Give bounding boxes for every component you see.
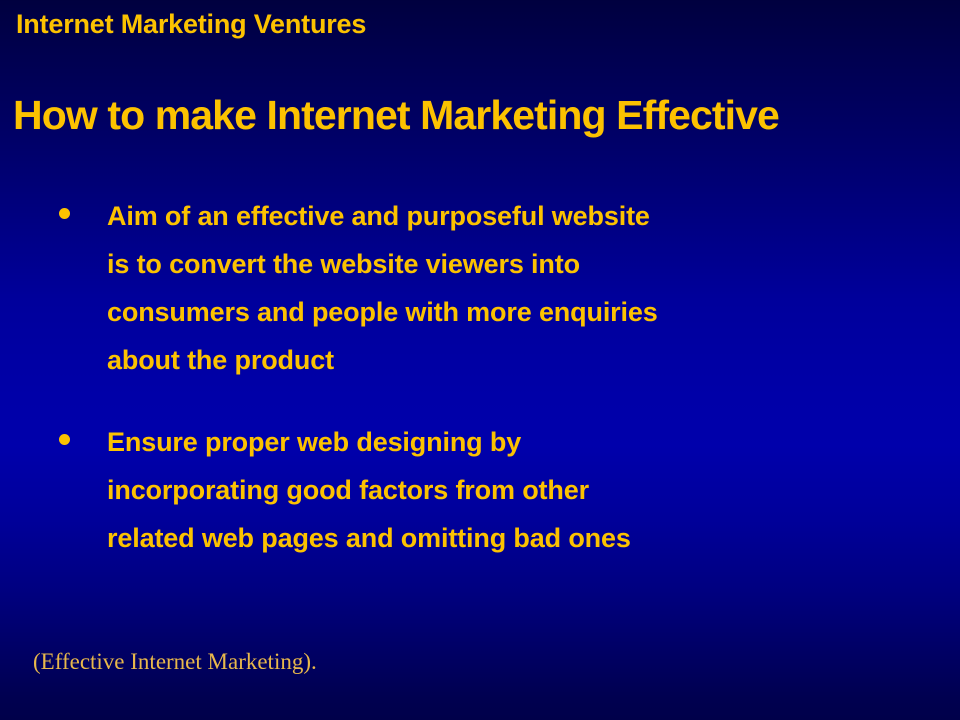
slide-body: Aim of an effective and purposeful websi… [52, 192, 932, 562]
bullet-item: Ensure proper web designing by incorpora… [52, 418, 932, 562]
slide-footer-citation: (Effective Internet Marketing). [33, 649, 317, 675]
bullet-line: Aim of an effective and purposeful websi… [107, 192, 932, 240]
bullet-text: Aim of an effective and purposeful websi… [107, 192, 932, 384]
slide-title: How to make Internet Marketing Effective [13, 92, 957, 139]
bullet-dot-icon [59, 434, 70, 445]
bullet-line: related web pages and omitting bad ones [107, 514, 932, 562]
bullet-line: about the product [107, 336, 932, 384]
bullet-line: incorporating good factors from other [107, 466, 932, 514]
bullet-line: consumers and people with more enquiries [107, 288, 932, 336]
presentation-slide: Internet Marketing Ventures How to make … [0, 0, 960, 720]
bullet-line: Ensure proper web designing by [107, 418, 932, 466]
bullet-dot-icon [59, 208, 70, 219]
bullet-line: is to convert the website viewers into [107, 240, 932, 288]
slide-header: Internet Marketing Ventures [16, 9, 366, 40]
bullet-item: Aim of an effective and purposeful websi… [52, 192, 932, 384]
bullet-text: Ensure proper web designing by incorpora… [107, 418, 932, 562]
